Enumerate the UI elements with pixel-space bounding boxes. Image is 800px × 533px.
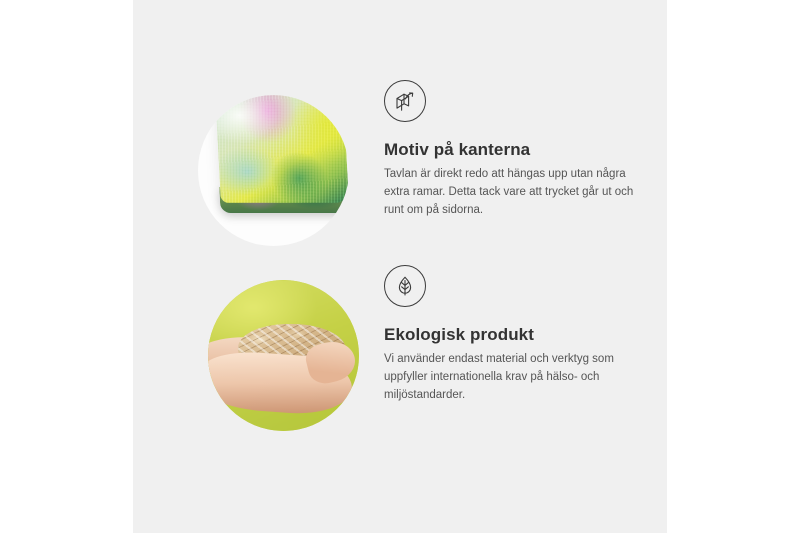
feature-body: Vi använder endast material och verktyg … (384, 351, 646, 404)
feature-title: Motiv på kanterna (384, 140, 654, 160)
product-feature-panel: Motiv på kanterna Tavlan är direkt redo … (0, 0, 800, 533)
feature-text-1: Motiv på kanterna Tavlan är direkt redo … (384, 80, 654, 220)
canvas-wrapped-edge-icon (384, 80, 426, 122)
content-panel: Motiv på kanterna Tavlan är direkt redo … (133, 0, 667, 533)
hands-wood-chips-photo (208, 280, 359, 431)
canvas-corner-photo (198, 95, 349, 246)
canvas-illustration (218, 95, 349, 227)
feature-title: Ekologisk produkt (384, 325, 654, 345)
feature-text-2: Ekologisk produkt Vi använder endast mat… (384, 265, 654, 405)
canvas-front-face (215, 95, 349, 203)
feature-body: Tavlan är direkt redo att hängas upp uta… (384, 166, 646, 219)
leaf-icon (384, 265, 426, 307)
